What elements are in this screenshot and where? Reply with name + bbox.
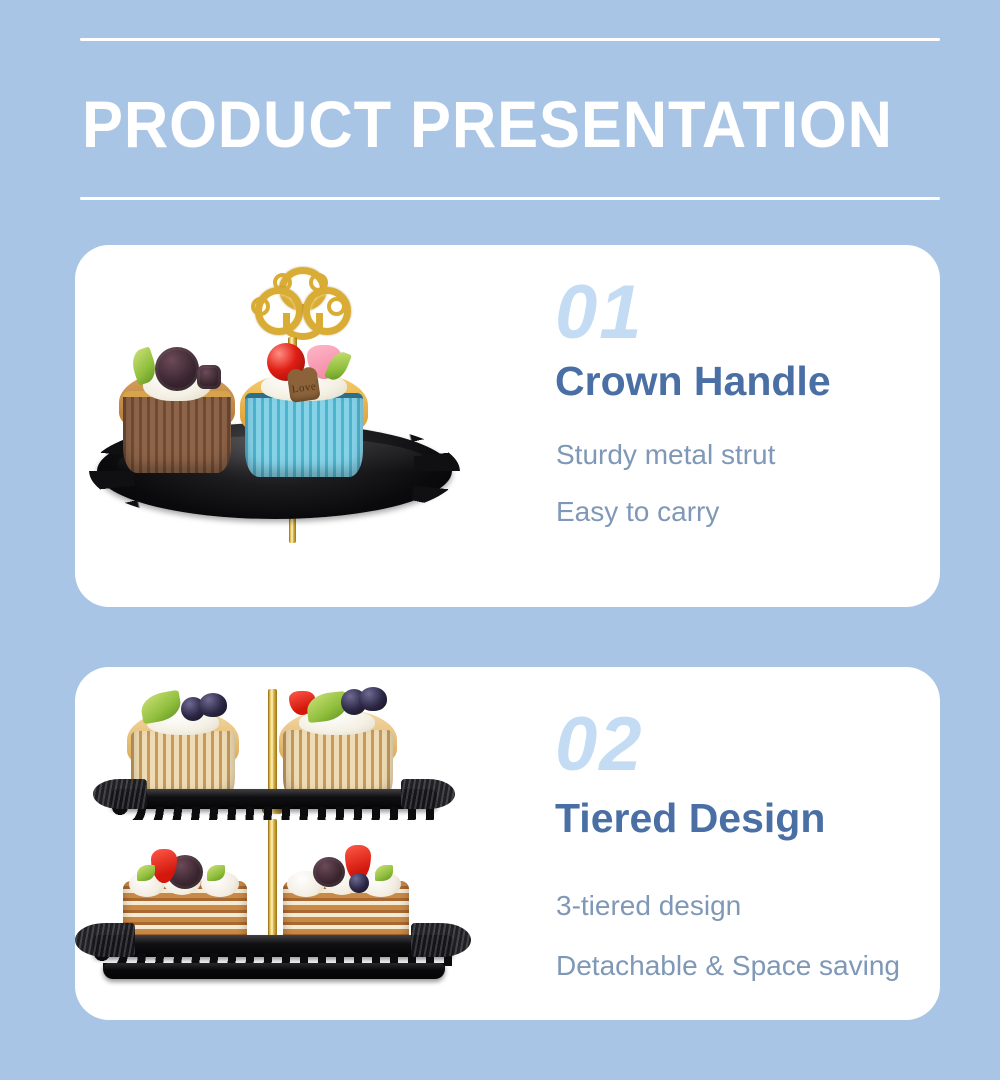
love-medallion: Love — [287, 373, 320, 403]
header-divider-bottom — [80, 197, 940, 200]
bottom-tier-fan-left — [75, 923, 135, 957]
gold-rod-lower — [268, 819, 277, 949]
feature-line-01-0: Sturdy metal strut — [556, 438, 775, 472]
top-tier-fan-right — [401, 779, 455, 809]
product-photo-crown-handle: Love — [75, 245, 475, 607]
product-photo-tiered-design — [75, 667, 475, 1020]
chocolate-disc-right — [313, 857, 345, 887]
crown-handle-icon — [253, 267, 339, 345]
feature-number-02: 02 — [555, 707, 644, 783]
blueberry-right — [349, 873, 369, 893]
feature-text-02: 02 Tiered Design 3-tiered design Detacha… — [480, 667, 940, 1020]
cupcake-right-liner — [245, 393, 363, 477]
cupcake-right: Love — [245, 349, 363, 477]
photo-stage: Love — [75, 245, 475, 607]
crown-curl-upper-left — [273, 273, 292, 292]
crown-curl-upper-right — [309, 273, 328, 292]
bottom-tier-fan-right — [411, 923, 471, 957]
cupcake-left — [123, 351, 231, 473]
feature-title-02: Tiered Design — [555, 794, 825, 842]
page-title: PRODUCT PRESENTATION — [82, 78, 882, 170]
cupcake-left-liner — [123, 391, 231, 473]
chocolate-cookie-topping — [155, 347, 199, 391]
feature-card-02[interactable]: 02 Tiered Design 3-tiered design Detacha… — [75, 667, 940, 1020]
feature-line-02-0: 3-tiered design — [556, 889, 741, 923]
top-tier-scallop — [111, 807, 437, 820]
top-tier-plate — [111, 789, 437, 809]
page-header: PRODUCT PRESENTATION — [0, 0, 1000, 225]
crown-curl-left — [251, 297, 270, 316]
dark-grape-garnish — [199, 693, 227, 717]
feature-number-01: 01 — [555, 275, 644, 351]
top-tier-fan-left — [93, 779, 147, 809]
feature-line-01-1: Easy to carry — [556, 495, 719, 529]
header-divider-top — [80, 38, 940, 41]
feature-line-02-1: Detachable & Space saving — [556, 949, 900, 983]
crown-stem — [283, 313, 323, 340]
feature-text-01: 01 Crown Handle Sturdy metal strut Easy … — [480, 245, 940, 607]
cupcake-top-right — [283, 685, 393, 803]
bottom-tier-base — [103, 963, 445, 979]
dark-grape-garnish-2 — [359, 687, 387, 711]
feature-title-01: Crown Handle — [555, 357, 831, 405]
feature-card-01[interactable]: Love 01 Crown Handle Sturdy metal strut … — [75, 245, 940, 607]
photo-stage-2 — [75, 667, 475, 1020]
crown-curl-right — [327, 297, 346, 316]
chocolate-chip-garnish — [197, 365, 221, 389]
